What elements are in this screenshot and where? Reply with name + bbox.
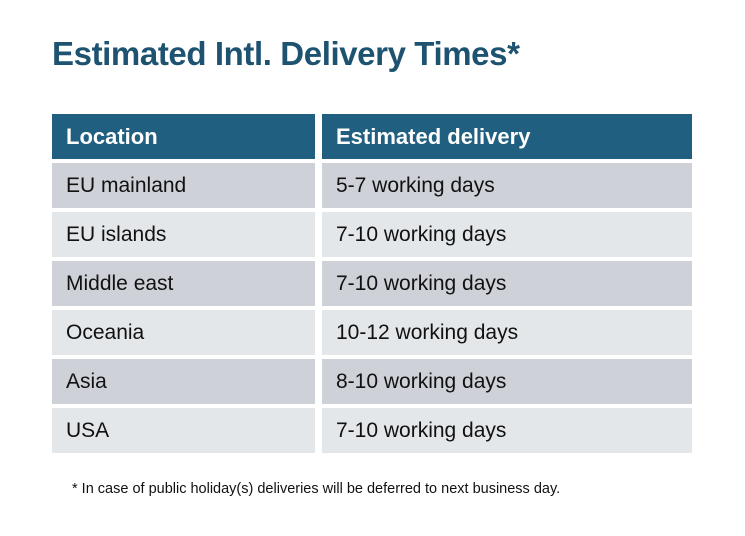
footnote: * In case of public holiday(s) deliverie…: [72, 481, 560, 498]
cell-estimated-delivery: 7-10 working days: [322, 261, 692, 306]
cell-estimated-delivery: 7-10 working days: [322, 408, 692, 453]
table-row: Asia 8-10 working days: [52, 359, 692, 404]
table-header-row: Location Estimated delivery: [52, 114, 692, 159]
table-row: Middle east 7-10 working days: [52, 261, 692, 306]
cell-estimated-delivery: 5-7 working days: [322, 163, 692, 208]
cell-estimated-delivery: 7-10 working days: [322, 212, 692, 257]
table-row: Oceania 10-12 working days: [52, 310, 692, 355]
cell-location: Asia: [52, 359, 315, 404]
delivery-times-table: Location Estimated delivery EU mainland …: [52, 114, 692, 453]
cell-location: EU islands: [52, 212, 315, 257]
delivery-times-page: Estimated Intl. Delivery Times* Location…: [0, 0, 745, 536]
column-header-location: Location: [52, 114, 315, 159]
column-header-estimated-delivery: Estimated delivery: [322, 114, 692, 159]
page-title: Estimated Intl. Delivery Times*: [52, 36, 520, 72]
cell-location: EU mainland: [52, 163, 315, 208]
cell-location: USA: [52, 408, 315, 453]
cell-location: Oceania: [52, 310, 315, 355]
table-row: EU islands 7-10 working days: [52, 212, 692, 257]
table-row: USA 7-10 working days: [52, 408, 692, 453]
cell-estimated-delivery: 8-10 working days: [322, 359, 692, 404]
table-row: EU mainland 5-7 working days: [52, 163, 692, 208]
cell-location: Middle east: [52, 261, 315, 306]
cell-estimated-delivery: 10-12 working days: [322, 310, 692, 355]
